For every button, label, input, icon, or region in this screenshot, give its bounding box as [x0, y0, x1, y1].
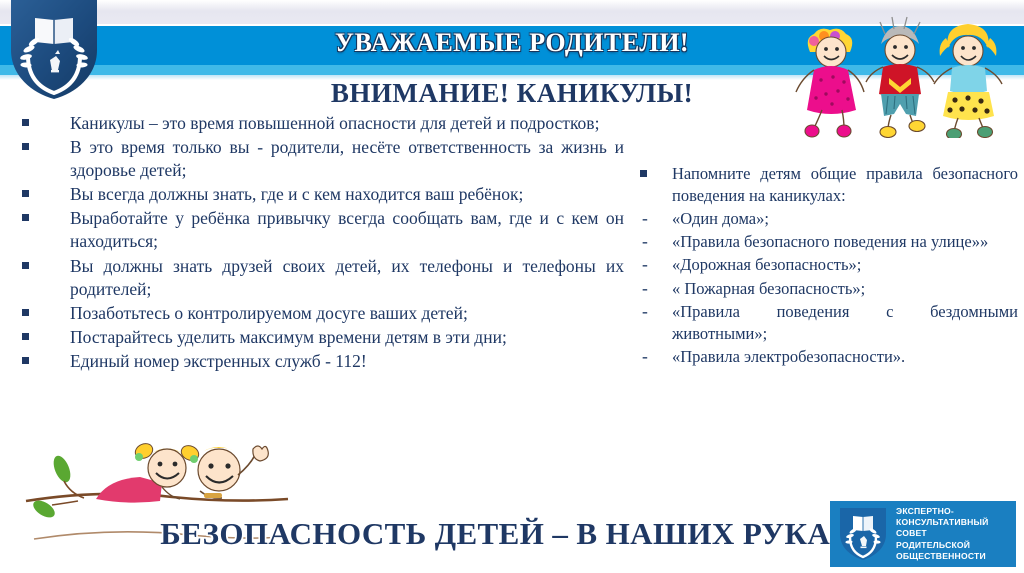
- square-bullet-icon: [22, 143, 29, 150]
- list-item-text: Напомните детям общие правила безопасног…: [672, 164, 1018, 205]
- left-content-column: Каникулы – это время повышенной опасност…: [14, 112, 624, 374]
- list-item: -«Правила безопасного поведения на улице…: [630, 231, 1018, 253]
- organization-logo-text: Экспертно- консультативный совет родител…: [896, 506, 989, 563]
- dash-bullet-icon: -: [642, 253, 648, 276]
- poster-canvas: УВАЖАЕМЫЕ РОДИТЕЛИ! ВНИМАНИЕ! КАНИКУЛЫ!: [0, 0, 1024, 573]
- list-item: -«Правила электробезопасности».: [630, 346, 1018, 368]
- list-item-text: «Правила безопасного поведения на улице»…: [672, 232, 988, 251]
- logo-line: родительской: [896, 540, 989, 551]
- list-item: Напомните детям общие правила безопасног…: [630, 163, 1018, 207]
- organization-logo-card: Экспертно- консультативный совет родител…: [830, 501, 1016, 567]
- list-item-text: Вы всегда должны знать, где и с кем нахо…: [70, 184, 523, 204]
- list-item-text: «Дорожная безопасность»;: [672, 255, 861, 274]
- list-item: -«Дорожная безопасность»;: [630, 254, 1018, 276]
- square-bullet-icon: [22, 357, 29, 364]
- square-bullet-icon: [22, 119, 29, 126]
- square-bullet-icon: [640, 170, 647, 177]
- list-item-text: В это время только вы - родители, несёте…: [70, 137, 624, 180]
- logo-line: Экспертно-: [896, 506, 989, 517]
- list-item: В это время только вы - родители, несёте…: [14, 136, 624, 182]
- logo-line: совет: [896, 528, 989, 539]
- square-bullet-icon: [22, 333, 29, 340]
- safety-rules-list: Напомните детям общие правила безопасног…: [630, 163, 1018, 368]
- logo-line: общественности: [896, 551, 989, 562]
- list-item: -«Один дома»;: [630, 208, 1018, 230]
- dash-bullet-icon: -: [642, 277, 648, 300]
- organization-shield-icon: [837, 506, 889, 562]
- dash-bullet-icon: -: [642, 345, 648, 368]
- list-item: Единый номер экстренных служб - 112!: [14, 350, 624, 373]
- list-item-text: «Правила поведения с бездомными животным…: [672, 302, 1018, 343]
- list-item: Постарайтесь уделить максимум времени де…: [14, 326, 624, 349]
- dash-bullet-icon: -: [642, 207, 648, 230]
- list-item: Позаботьтесь о контролируемом досуге ваш…: [14, 302, 624, 325]
- list-item: -« Пожарная безопасность»;: [630, 278, 1018, 300]
- list-item-text: «Правила электробезопасности».: [672, 347, 905, 366]
- parent-advice-list: Каникулы – это время повышенной опасност…: [14, 112, 624, 373]
- logo-line: консультативный: [896, 517, 989, 528]
- list-item-text: Каникулы – это время повышенной опасност…: [70, 113, 599, 133]
- list-item-text: Позаботьтесь о контролируемом досуге ваш…: [70, 303, 468, 323]
- list-item-text: Единый номер экстренных служб - 112!: [70, 351, 367, 371]
- list-item-text: «Один дома»;: [672, 209, 769, 228]
- square-bullet-icon: [22, 309, 29, 316]
- list-item-text: Постарайтесь уделить максимум времени де…: [70, 327, 507, 347]
- list-item-text: Вы должны знать друзей своих детей, их т…: [70, 256, 624, 299]
- square-bullet-icon: [22, 190, 29, 197]
- dash-bullet-icon: -: [642, 230, 648, 253]
- list-item: Выработайте у ребёнка привычку всегда со…: [14, 207, 624, 253]
- list-item-text: Выработайте у ребёнка привычку всегда со…: [70, 208, 624, 251]
- list-item: Вы должны знать друзей своих детей, их т…: [14, 255, 624, 301]
- three-children-clipart-icon: [788, 8, 1018, 138]
- right-content-column: Напомните детям общие правила безопасног…: [630, 163, 1018, 369]
- list-item: -«Правила поведения с бездомными животны…: [630, 301, 1018, 345]
- list-item: Каникулы – это время повышенной опасност…: [14, 112, 624, 135]
- square-bullet-icon: [22, 262, 29, 269]
- list-item: Вы всегда должны знать, где и с кем нахо…: [14, 183, 624, 206]
- list-item-text: « Пожарная безопасность»;: [672, 279, 865, 298]
- dash-bullet-icon: -: [642, 300, 648, 323]
- square-bullet-icon: [22, 214, 29, 221]
